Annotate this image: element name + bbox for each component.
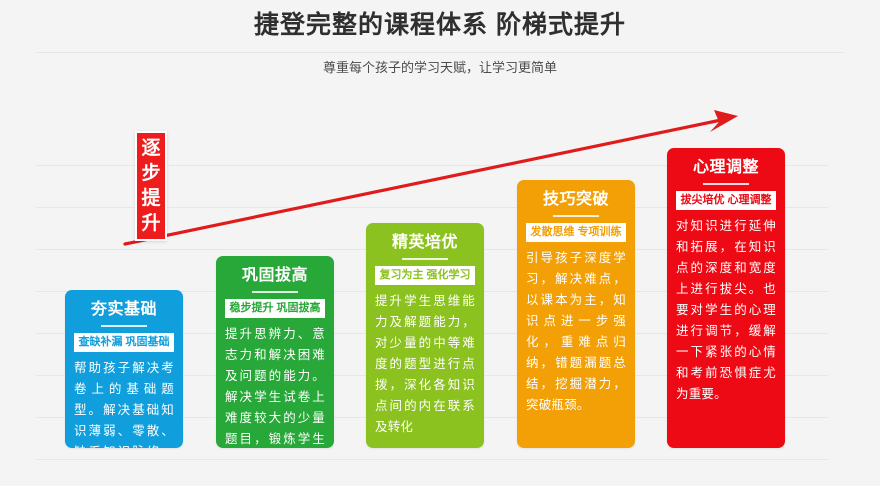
column-badge: 稳步提升 巩固拔高 bbox=[225, 299, 325, 318]
column-body: 提升思辨力、意志力和解决困难及问题的能力。解决学生试卷上难度较大的少量题目，锻炼… bbox=[225, 324, 325, 448]
column-divider bbox=[553, 215, 599, 217]
column-badge: 拔尖培优 心理调整 bbox=[676, 191, 776, 210]
column-body: 提升学生思维能力及解题能力，对少量的中等难度的题型进行点拨，深化各知识点间的内在… bbox=[375, 291, 475, 438]
side-label-char-4: 升 bbox=[137, 211, 165, 236]
side-label-char-1: 逐 bbox=[137, 136, 165, 161]
stage-column-3[interactable]: 精英培优 复习为主 强化学习 提升学生思维能力及解题能力，对少量的中等难度的题型… bbox=[366, 223, 484, 448]
column-badge: 查缺补漏 巩固基础 bbox=[74, 333, 174, 352]
column-title: 技巧突破 bbox=[526, 189, 626, 211]
column-title: 心理调整 bbox=[676, 157, 776, 179]
page-subtitle: 尊重每个孩子的学习天赋，让学习更简单 bbox=[0, 58, 880, 78]
gridline bbox=[36, 459, 828, 460]
column-title: 夯实基础 bbox=[74, 299, 174, 321]
column-divider bbox=[101, 325, 147, 327]
column-body: 帮助孩子解决考卷上的基础题型。解决基础知识薄弱、零散、缺乏知识脉络、不能交叉运用… bbox=[74, 358, 174, 448]
side-label-char-2: 步 bbox=[137, 161, 165, 186]
column-title: 巩固拔高 bbox=[225, 265, 325, 287]
column-badge: 发散思维 专项训练 bbox=[526, 223, 626, 242]
column-divider bbox=[703, 183, 749, 185]
infographic-stage: 捷登完整的课程体系 阶梯式提升 尊重每个孩子的学习天赋，让学习更简单 逐 步 提… bbox=[0, 0, 880, 486]
column-divider bbox=[252, 291, 298, 293]
header-divider bbox=[36, 52, 844, 53]
column-body: 引导孩子深度学习，解决难点，以课本为主，知识点进一步强化，重难点归纳，错题漏题总… bbox=[526, 248, 626, 416]
stage-column-2[interactable]: 巩固拔高 稳步提升 巩固拔高 提升思辨力、意志力和解决困难及问题的能力。解决学生… bbox=[216, 256, 334, 448]
side-label-progressive-improvement: 逐 步 提 升 bbox=[135, 131, 167, 241]
page-title: 捷登完整的课程体系 阶梯式提升 bbox=[0, 8, 880, 42]
column-title: 精英培优 bbox=[375, 232, 475, 254]
stage-column-1[interactable]: 夯实基础 查缺补漏 巩固基础 帮助孩子解决考卷上的基础题型。解决基础知识薄弱、零… bbox=[65, 290, 183, 448]
side-label-char-3: 提 bbox=[137, 186, 165, 211]
stage-column-4[interactable]: 技巧突破 发散思维 专项训练 引导孩子深度学习，解决难点，以课本为主，知识点进一… bbox=[517, 180, 635, 448]
column-body: 对知识进行延伸和拓展，在知识点的深度和宽度上进行拔尖。也要对学生的心理进行调节，… bbox=[676, 216, 776, 405]
stage-column-5[interactable]: 心理调整 拔尖培优 心理调整 对知识进行延伸和拓展，在知识点的深度和宽度上进行拔… bbox=[667, 148, 785, 448]
column-badge: 复习为主 强化学习 bbox=[375, 266, 475, 285]
column-divider bbox=[402, 258, 448, 260]
